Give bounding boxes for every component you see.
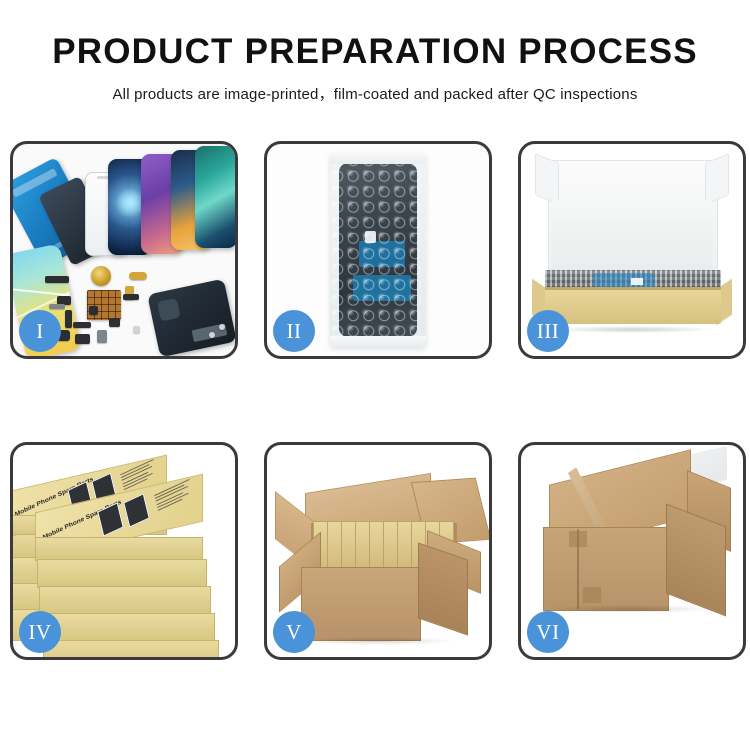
carton-side-face xyxy=(418,542,468,635)
spare-part xyxy=(209,332,215,338)
spare-part xyxy=(75,334,90,344)
step-panel-3: III xyxy=(518,141,746,359)
carton-front-face xyxy=(301,567,421,641)
product-preparation-infographic: PRODUCT PREPARATION PROCESS All products… xyxy=(0,0,750,750)
box-shadow xyxy=(551,326,715,333)
bag-seal-bottom xyxy=(330,336,426,347)
spare-part xyxy=(49,304,65,309)
step-badge-3: III xyxy=(527,310,569,352)
mailer-lid-right-flap xyxy=(705,153,729,205)
carton-front-face xyxy=(543,527,669,611)
step-panel-2: II xyxy=(264,141,492,359)
box-label-lines xyxy=(154,479,193,513)
phone-back-housing-icon xyxy=(147,279,235,356)
step-badge-2: II xyxy=(273,310,315,352)
step-badge-5: V xyxy=(273,611,315,653)
steps-grid: I II xyxy=(10,141,740,678)
step-badge-1: I xyxy=(19,310,61,352)
step-panel-1: I xyxy=(10,141,238,359)
gold-coil-part-icon xyxy=(91,266,111,286)
spare-part xyxy=(97,330,107,343)
mailer-lid-left-flap xyxy=(535,153,559,205)
phone-screen-teal-icon xyxy=(195,146,235,248)
step-panel-4: Mobile Phone Spare Parts Mobile Phone Sp… xyxy=(10,442,238,660)
page-title: PRODUCT PREPARATION PROCESS xyxy=(0,34,750,69)
bubble-highlight-pattern-icon xyxy=(330,153,426,347)
carton-shadow xyxy=(547,605,713,613)
spare-part xyxy=(45,276,69,283)
bag-seal-top xyxy=(330,153,426,164)
mailer-box-front-icon xyxy=(545,290,721,324)
foam-lining-icon xyxy=(552,200,712,272)
carton-tab xyxy=(569,531,587,547)
step-panel-6: VI xyxy=(518,442,746,660)
step-badge-6: VI xyxy=(527,611,569,653)
spare-part xyxy=(109,318,120,327)
bubble-wrap-bag-icon xyxy=(330,153,426,347)
box-label-image xyxy=(123,493,150,527)
step-badge-4: IV xyxy=(19,611,61,653)
carton-shadow xyxy=(303,637,453,645)
spare-part xyxy=(133,326,140,333)
spare-part xyxy=(129,272,147,280)
part-white-marking xyxy=(631,278,643,285)
spare-part xyxy=(219,324,225,330)
step-panel-5: V xyxy=(264,442,492,660)
page-subtitle: All products are image-printed，film-coat… xyxy=(0,83,750,104)
carton-tab xyxy=(583,587,601,603)
chip-grid-part-icon xyxy=(87,290,121,320)
spare-part xyxy=(73,322,91,328)
header: PRODUCT PREPARATION PROCESS All products… xyxy=(0,0,750,104)
part-blue-marking xyxy=(593,273,655,288)
spare-part xyxy=(89,306,98,315)
spare-part xyxy=(65,310,72,328)
spare-part xyxy=(123,294,139,300)
